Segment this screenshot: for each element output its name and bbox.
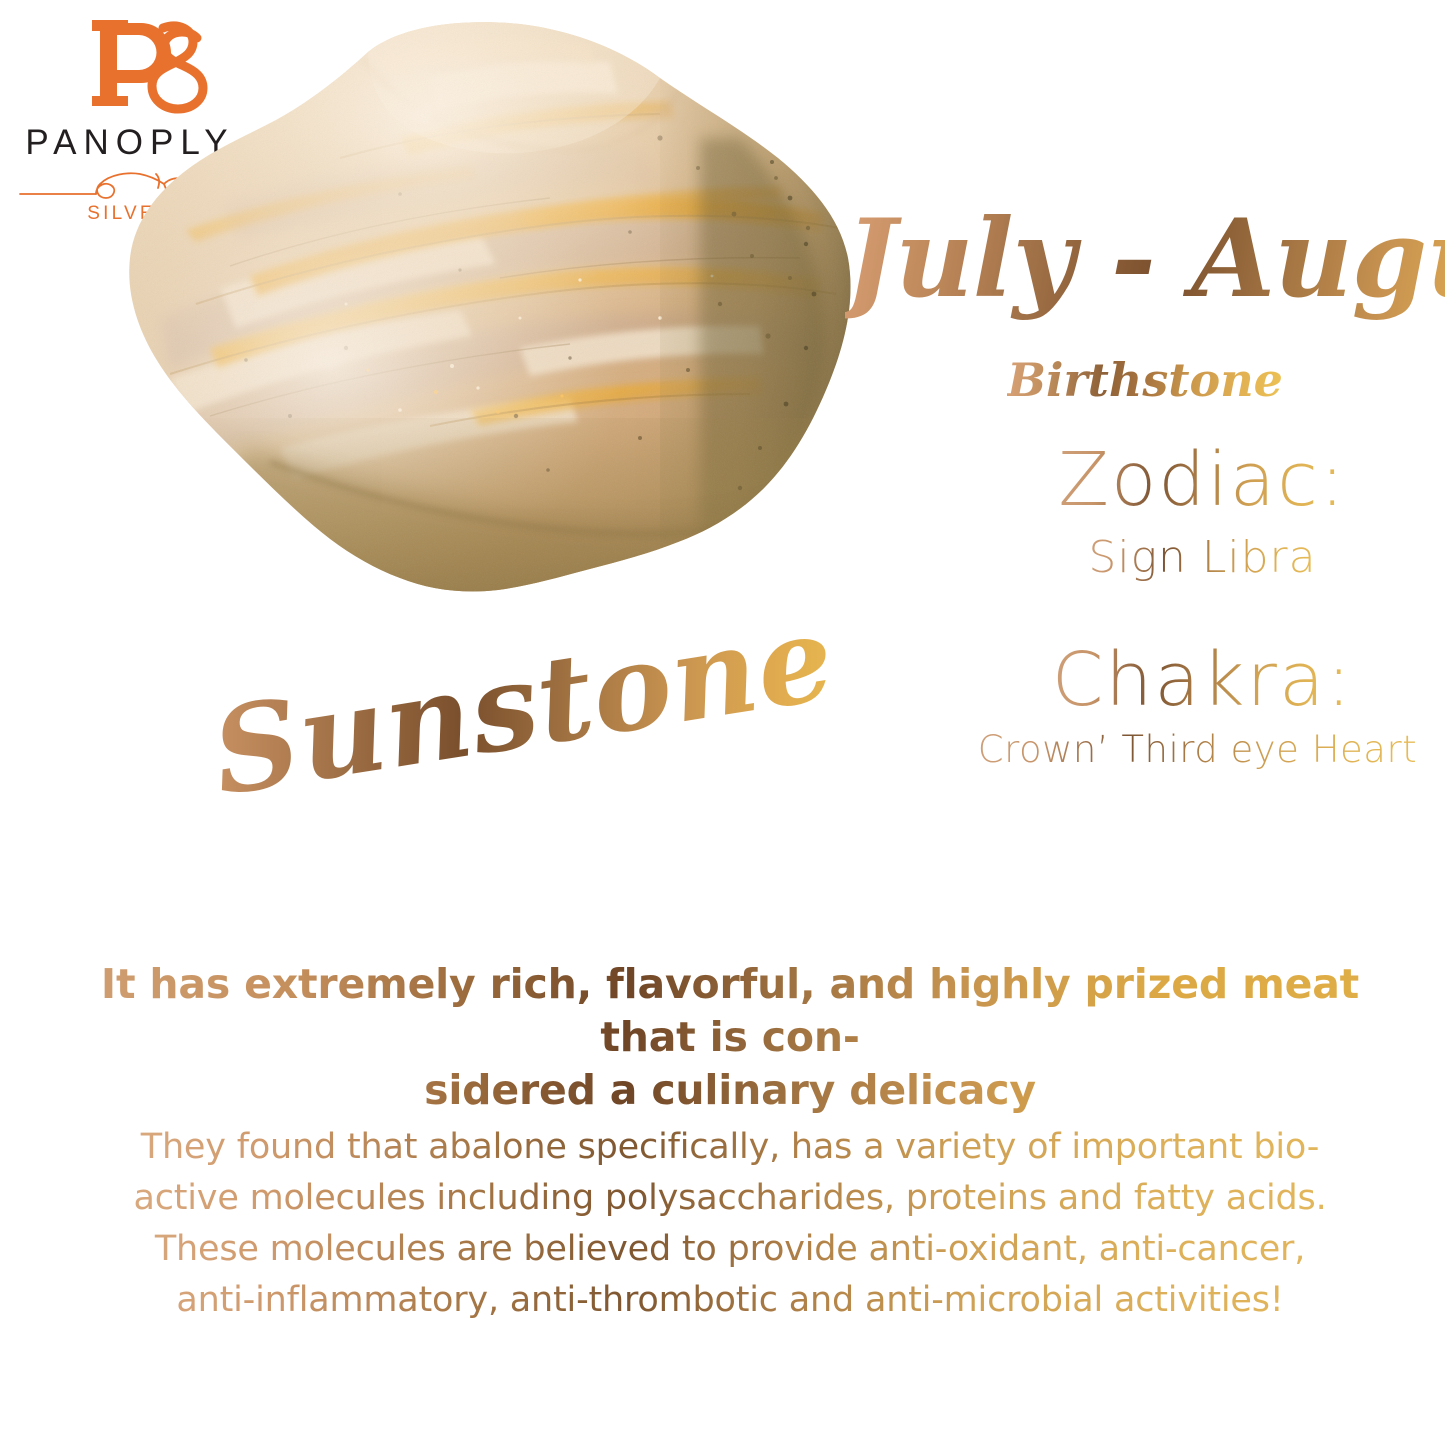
zodiac-label: Zodiac:	[960, 440, 1445, 520]
paragraph-line-1: They found that abalone specifically, ha…	[85, 1122, 1375, 1173]
chakra-value: Crown’ Third eye Heart	[950, 728, 1445, 772]
birthstone-subtitle-text: Birthstone	[1007, 353, 1283, 407]
birthstone-subtitle: Birthstone	[845, 355, 1445, 405]
paragraph-line-2: active molecules including polysaccharid…	[85, 1173, 1375, 1224]
zodiac-label-text: Zodiac:	[1058, 437, 1346, 523]
month-range-text: July - August	[845, 196, 1445, 322]
chakra-label-text: Chakra:	[1052, 637, 1353, 723]
zodiac-value: Sign Libra	[960, 533, 1445, 583]
infographic-canvas: PANOPLY SILVER	[0, 0, 1445, 1445]
paragraph-block: They found that abalone specifically, ha…	[85, 1122, 1375, 1326]
chakra-value-text: Crown’ Third eye Heart	[978, 728, 1417, 771]
chakra-label: Chakra:	[960, 640, 1445, 720]
zodiac-value-text: Sign Libra	[1088, 532, 1316, 583]
headline-block: It has extremely rich, flavorful, and hi…	[85, 958, 1375, 1117]
month-range-heading: July - August	[845, 200, 1445, 318]
sunstone-crystal-photo	[100, 18, 870, 618]
headline-line-2: sidered a culinary delicacy	[85, 1064, 1375, 1117]
paragraph-line-4: anti-inflammatory, anti-thrombotic and a…	[85, 1275, 1375, 1326]
paragraph-line-3: These molecules are believed to provide …	[85, 1224, 1375, 1275]
headline-line-1: It has extremely rich, flavorful, and hi…	[85, 958, 1375, 1064]
